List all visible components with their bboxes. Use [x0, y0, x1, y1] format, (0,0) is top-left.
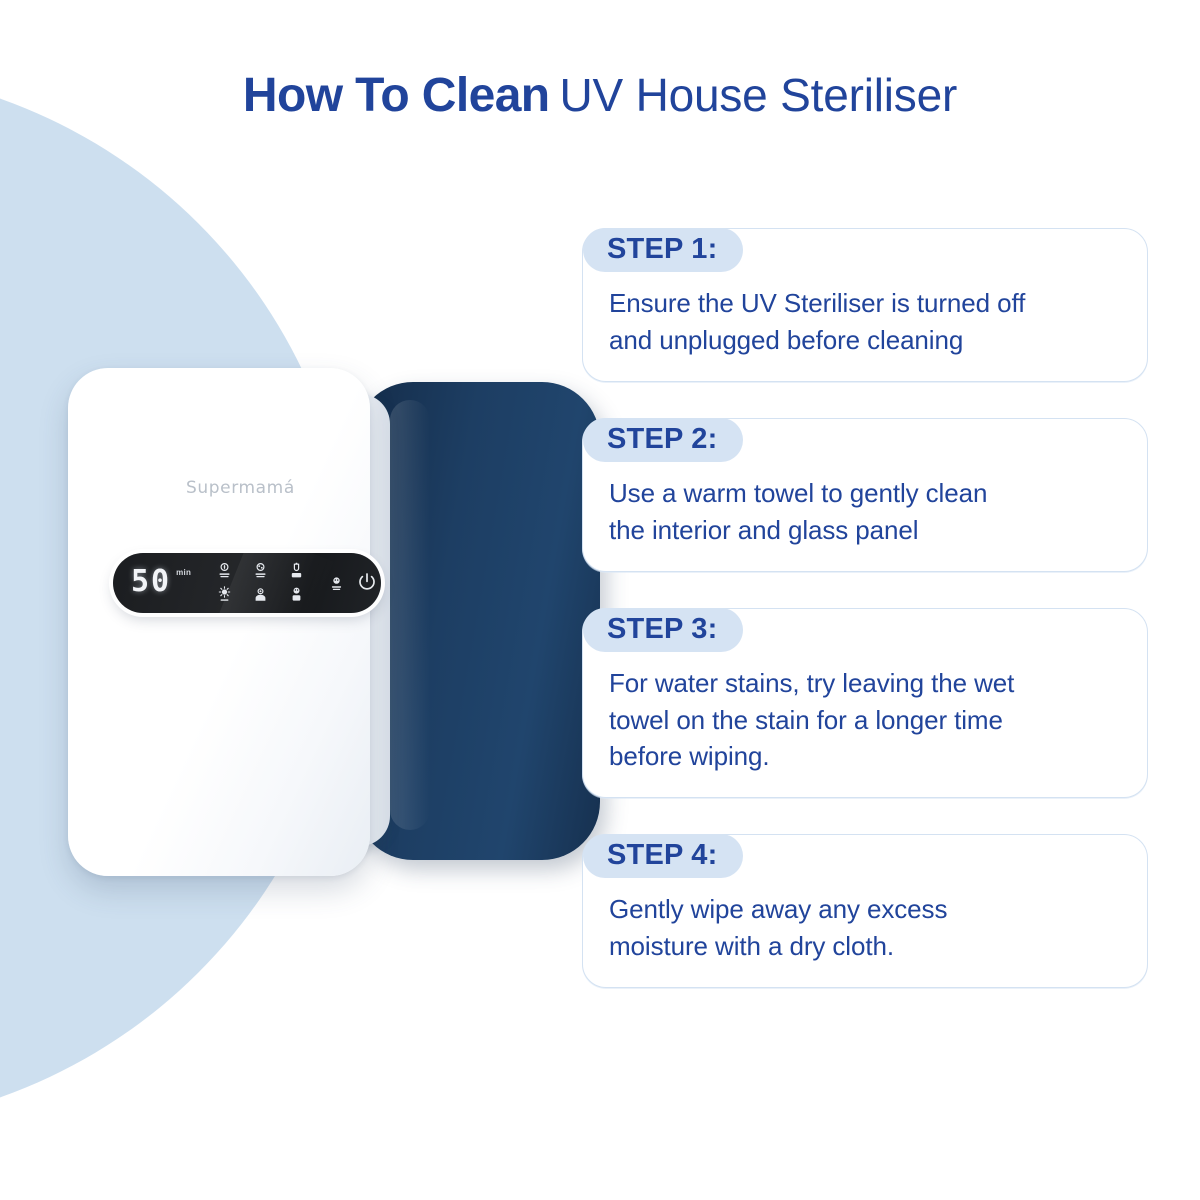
steps-list: Ensure the UV Steriliser is turned off a…: [582, 228, 1148, 988]
storage-mode-icon[interactable]: [289, 562, 304, 580]
step-item-2: Use a warm towel to gently clean the int…: [582, 418, 1148, 572]
auto-mode-icon[interactable]: [289, 586, 304, 604]
infographic-root: How To CleanUV House Steriliser Supermam…: [0, 0, 1200, 1200]
step-body-line: before wiping.: [609, 738, 1121, 775]
power-icon[interactable]: [356, 571, 378, 593]
step-label-3: STEP 3:: [583, 608, 743, 652]
step-label-4: STEP 4:: [583, 834, 743, 878]
step-body-line: Use a warm towel to gently clean: [609, 475, 1121, 512]
drying-mode-icon[interactable]: [217, 562, 232, 580]
timer-display-unit: min: [176, 568, 191, 577]
step-label-2: STEP 2:: [583, 418, 743, 462]
device-rear-highlight: [390, 400, 430, 830]
sterilise-mode-icon[interactable]: [253, 562, 268, 580]
product-illustration: Supermamá 50 min: [60, 360, 560, 890]
step-body-line: towel on the stain for a longer time: [609, 702, 1121, 739]
bottle-warm-icon[interactable]: [253, 586, 268, 604]
device-front-door: Supermamá 50 min: [68, 368, 370, 876]
step-body-line: and unplugged before cleaning: [609, 322, 1121, 359]
step-item-1: Ensure the UV Steriliser is turned off a…: [582, 228, 1148, 382]
step-body-line: Gently wipe away any excess: [609, 891, 1121, 928]
timer-display-value: 50: [131, 566, 171, 598]
uv-light-icon[interactable]: [217, 586, 232, 604]
timer-icon[interactable]: [329, 575, 344, 593]
page-title-bold: How To Clean: [243, 69, 550, 122]
step-body-1: Ensure the UV Steriliser is turned off a…: [609, 285, 1121, 359]
step-body-3: For water stains, try leaving the wet to…: [609, 665, 1121, 776]
step-body-line: moisture with a dry cloth.: [609, 928, 1121, 965]
brand-logo: Supermamá: [186, 478, 295, 498]
page-title-light: UV House Steriliser: [560, 69, 958, 121]
mode-button-grid: [215, 561, 325, 607]
page-title: How To CleanUV House Steriliser: [0, 68, 1200, 123]
step-body-line: Ensure the UV Steriliser is turned off: [609, 285, 1121, 322]
step-label-1: STEP 1:: [583, 228, 743, 272]
step-body-line: the interior and glass panel: [609, 512, 1121, 549]
control-panel: 50 min: [113, 553, 381, 613]
step-body-2: Use a warm towel to gently clean the int…: [609, 475, 1121, 549]
step-item-4: Gently wipe away any excess moisture wit…: [582, 834, 1148, 988]
step-body-4: Gently wipe away any excess moisture wit…: [609, 891, 1121, 965]
timer-display: 50 min: [131, 566, 191, 598]
step-item-3: For water stains, try leaving the wet to…: [582, 608, 1148, 799]
step-body-line: For water stains, try leaving the wet: [609, 665, 1121, 702]
device-door-sheen: [90, 386, 210, 856]
